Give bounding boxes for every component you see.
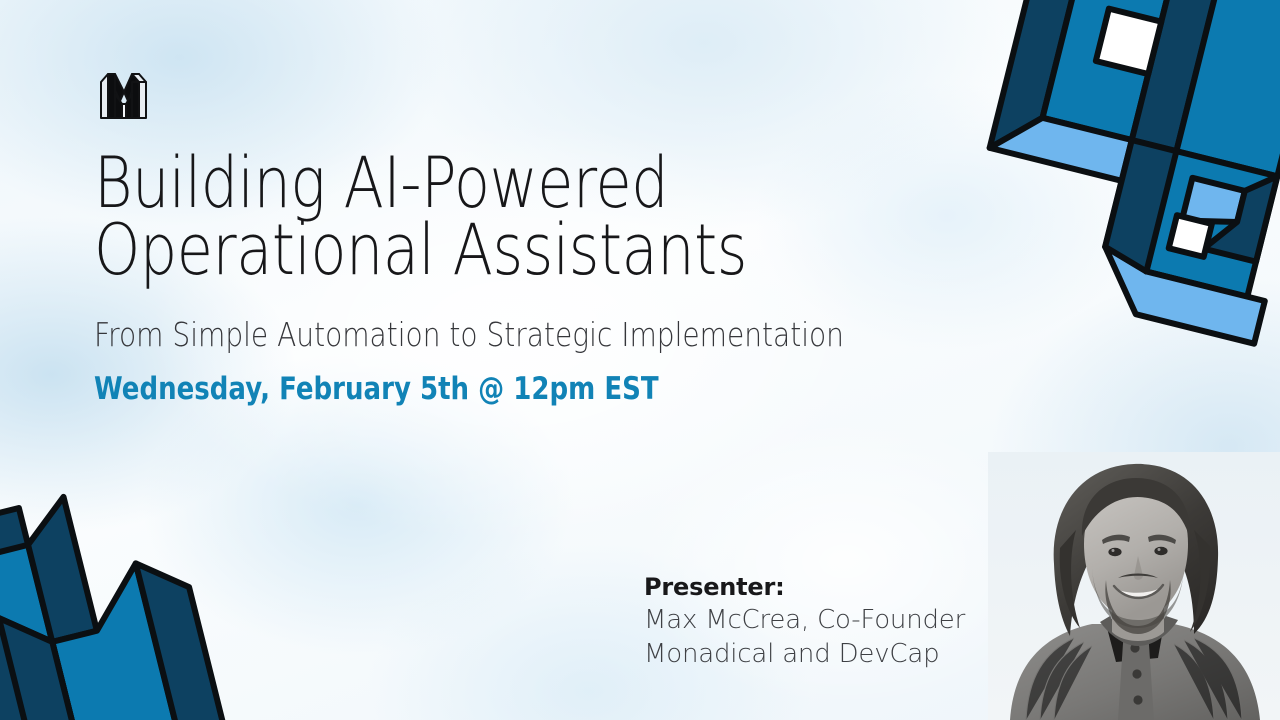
presenter-info: Presenter: Max McCrea, Co-Founder Monadi… [644, 572, 1044, 671]
slide-subtitle: From Simple Automation to Strategic Impl… [94, 317, 825, 354]
page-title: Building AI-Powered Operational Assistan… [94, 150, 816, 283]
presenter-name-role: Max McCrea, Co-Founder [644, 603, 1044, 637]
presenter-portrait-photo [988, 452, 1280, 720]
presenter-company: Monadical and DevCap [644, 637, 1044, 671]
event-datetime: Wednesday, February 5th @ 12pm EST [94, 372, 816, 406]
monadical-m-logo-icon [96, 70, 152, 124]
webinar-title-slide: Building AI-Powered Operational Assistan… [0, 0, 1280, 720]
slide-text-block: Building AI-Powered Operational Assistan… [94, 150, 954, 406]
presenter-label: Presenter: [644, 572, 1044, 603]
